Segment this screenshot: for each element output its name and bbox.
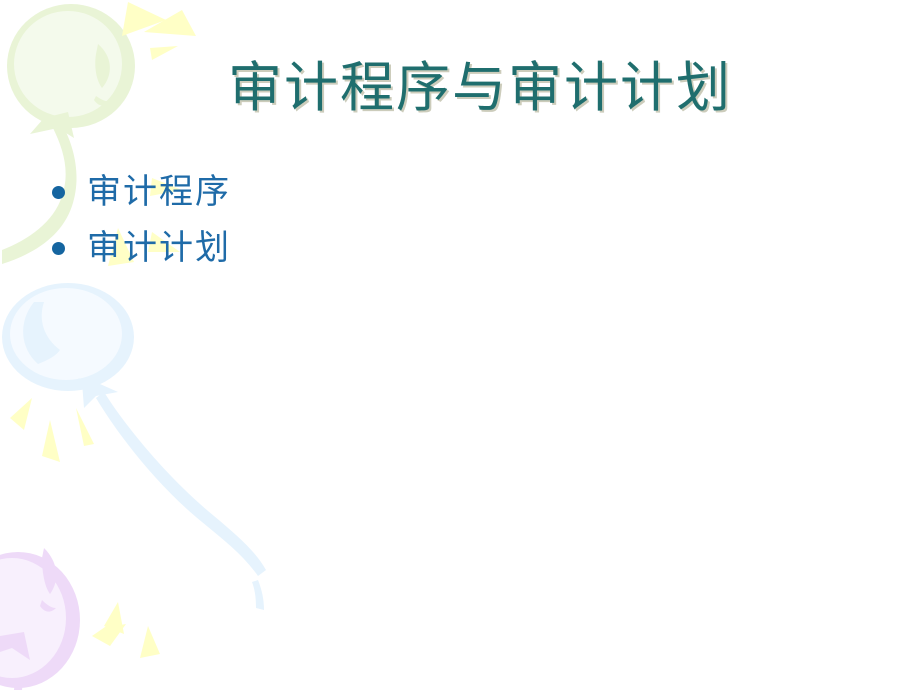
blue-balloon-knot	[78, 378, 118, 408]
sparkle-group-bottom	[92, 602, 160, 658]
blue-balloon-ribbon	[96, 392, 266, 576]
slide-title-text: 审计程序与审计计划	[228, 58, 732, 118]
lavender-balloon-rim	[0, 552, 80, 688]
blue-balloon	[2, 283, 266, 610]
sparkle-icon	[76, 408, 94, 446]
sparkle-icon	[104, 602, 124, 634]
blue-balloon-rim	[2, 283, 134, 391]
sparkle-icon	[10, 398, 32, 430]
slide-title: 审计程序与审计计划	[0, 58, 920, 118]
presentation-slide: 审计程序与审计计划 审计程序 审计计划	[0, 0, 920, 690]
lavender-balloon-body	[0, 558, 66, 678]
slide-bullet-list: 审计程序 审计计划	[52, 164, 672, 276]
blue-balloon-highlight	[23, 302, 60, 364]
sparkle-icon	[144, 10, 196, 36]
blue-balloon-ribbon-tail	[252, 580, 264, 610]
list-item-label: 审计程序	[87, 175, 231, 209]
lavender-balloon-knot	[0, 632, 30, 660]
list-item[interactable]: 审计计划	[52, 220, 672, 276]
sparkle-icon	[104, 624, 126, 646]
list-item[interactable]: 审计程序	[52, 164, 672, 220]
sparkle-group-middle	[10, 398, 94, 462]
lavender-balloon-ribbon	[10, 648, 23, 690]
filled-circle-bullet-icon	[52, 186, 65, 199]
lavender-balloon-highlight-2	[40, 600, 56, 612]
sparkle-icon	[92, 618, 118, 646]
sparkle-icon	[140, 626, 160, 658]
list-item-label: 审计计划	[87, 231, 231, 265]
filled-circle-bullet-icon	[52, 242, 65, 255]
blue-balloon-body	[10, 288, 122, 380]
sparkle-icon	[42, 420, 60, 462]
lavender-balloon-highlight	[42, 548, 56, 594]
sparkle-icon	[122, 2, 166, 36]
lavender-balloon	[0, 548, 80, 690]
